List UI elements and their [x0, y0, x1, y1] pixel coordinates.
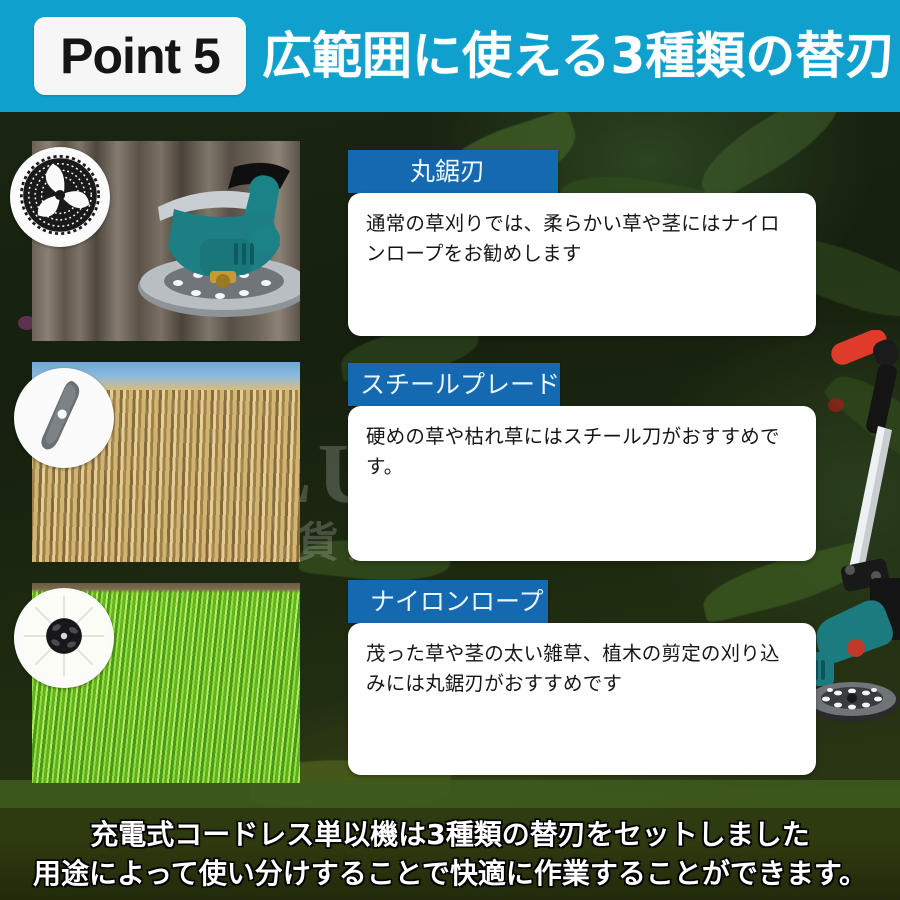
nylon-rope-head-badge: [14, 588, 114, 688]
caption-line-2: 用途によって使い分けすることで快適に作業することができます。: [33, 857, 867, 890]
card-tab-label: ナイロンロープ: [348, 589, 544, 614]
circular-saw-blade-badge: [10, 147, 110, 247]
point-badge: Point 5: [34, 17, 246, 95]
card-steel-blade: スチールプレード 硬めの草や枯れ草にはスチール刀がおすすめです。: [348, 363, 816, 561]
card-tab-label: スチールプレード: [348, 372, 560, 397]
card-tab-nylon-rope[interactable]: ナイロンロープ: [348, 580, 548, 623]
nylon-rope-head-icon: [17, 589, 111, 688]
bottom-caption: 充電式コードレス単以機は3種類の替刃をセットしました 用途によって使い分けするこ…: [0, 808, 900, 900]
product-feature-page: UNLUCK 雑貨店 Point 5 広範囲に使える3種類の替刃: [0, 0, 900, 900]
header-banner: Point 5 広範囲に使える3種類の替刃: [0, 0, 900, 112]
card-body-steel-blade: 硬めの草や枯れ草にはスチール刀がおすすめです。: [348, 406, 816, 561]
card-body-circular-saw-blade: 通常の草刈りでは、柔らかい草や茎にはナイロンロープをお勧めします: [348, 193, 816, 336]
card-tab-label: 丸鋸刃: [348, 159, 485, 184]
card-body-nylon-rope: 茂った草や茎の太い雑草、植木の剪定の刈り込みには丸鋸刃がおすすめです: [348, 623, 816, 775]
card-body-text: 通常の草刈りでは、柔らかい草や茎にはナイロンロープをお勧めします: [366, 209, 798, 269]
point-badge-label: Point 5: [60, 31, 220, 81]
card-body-text: 硬めの草や枯れ草にはスチール刀がおすすめです。: [366, 422, 798, 482]
page-title: 広範囲に使える3種類の替刃: [262, 31, 895, 81]
card-tab-circular-saw-blade[interactable]: 丸鋸刃: [348, 150, 558, 193]
card-nylon-rope: ナイロンロープ 茂った草や茎の太い雑草、植木の剪定の刈り込みには丸鋸刃がおすすめ…: [348, 580, 816, 775]
steel-blade-icon: [18, 370, 110, 467]
card-circular-saw-blade: 丸鋸刃 通常の草刈りでは、柔らかい草や茎にはナイロンロープをお勧めします: [348, 150, 816, 336]
steel-blade-badge: [14, 368, 114, 468]
card-tab-steel-blade[interactable]: スチールプレード: [348, 363, 560, 406]
card-body-text: 茂った草や茎の太い雑草、植木の剪定の刈り込みには丸鋸刃がおすすめです: [366, 639, 798, 699]
caption-line-1: 充電式コードレス単以機は3種類の替刃をセットしました: [90, 818, 810, 851]
circular-saw-blade-icon: [14, 149, 106, 246]
